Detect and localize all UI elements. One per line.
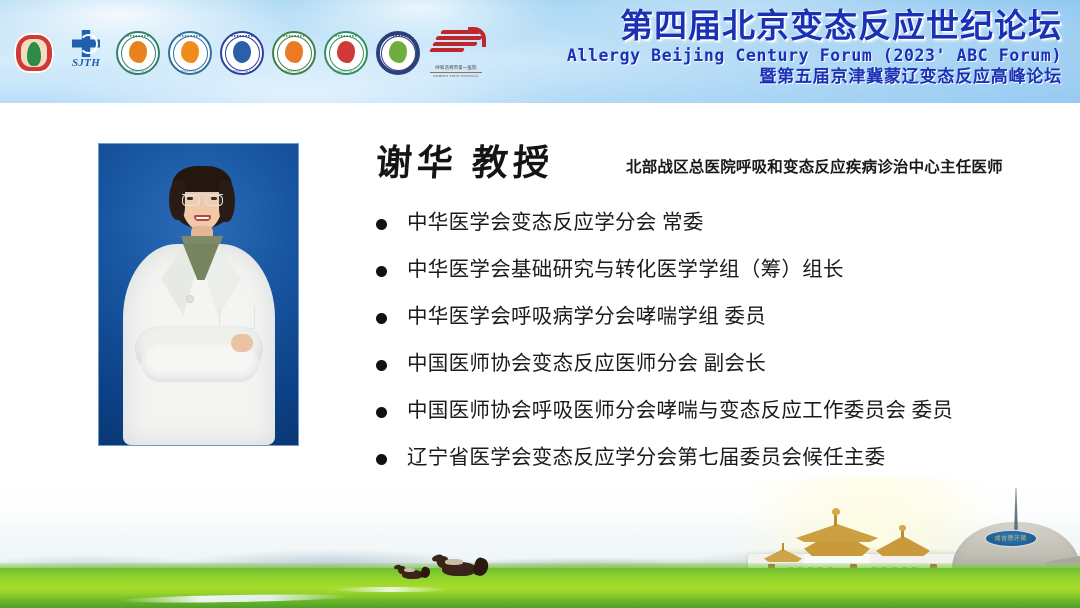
emblem-bottom-text-4: HOSPITAL bbox=[272, 69, 316, 73]
sjth-label: SJTH bbox=[66, 57, 106, 69]
horse-small bbox=[395, 566, 433, 586]
red-green-shield-icon bbox=[14, 33, 54, 73]
list-item: 中华医学会基础研究与转化医学学组（筹）组长 bbox=[376, 257, 1036, 304]
logo-hospital-emblem-2: ●●●●●●●● HOSPITAL bbox=[164, 25, 216, 81]
bullet-dot-icon bbox=[376, 360, 387, 371]
logo-hospital-emblem-1: ●●●●●●●● HOSPITAL bbox=[112, 25, 164, 81]
sjth-cross-icon: SJTH bbox=[66, 28, 106, 78]
emblem-bottom-text-1: HOSPITAL bbox=[116, 69, 160, 73]
logo-hospital-emblem-6: ●●●●●●●● HOSPITAL bbox=[372, 25, 424, 81]
sponsor-logo-strip: SJTH ●●●●●●●● HOSPITAL ●●●●●●●● HOSPITAL bbox=[8, 24, 478, 82]
forum-title-en: Allergy Beijing Century Forum (2023' ABC… bbox=[462, 45, 1062, 66]
horse-large bbox=[432, 556, 492, 588]
hospital-circular-emblem-icon-2: ●●●●●●●● HOSPITAL bbox=[168, 31, 212, 75]
logo-hospital-emblem-5: ●●●●●●●● HOSPITAL bbox=[320, 25, 372, 81]
speaker-role-title: 北部战区总医院呼吸和变态反应疾病诊治中心主任医师 bbox=[626, 158, 1003, 178]
credential-text: 中华医学会变态反应学分会 常委 bbox=[407, 210, 704, 236]
presentation-slide: SJTH ●●●●●●●● HOSPITAL ●●●●●●●● HOSPITAL bbox=[0, 0, 1080, 608]
bullet-dot-icon bbox=[376, 313, 387, 324]
credential-text: 辽宁省医学会变态反应学分会第七届委员会候任主委 bbox=[407, 445, 885, 471]
hospital-circular-emblem-icon-3: ●●●●●●●● HOSPITAL bbox=[220, 31, 264, 75]
emblem-bottom-text-2: HOSPITAL bbox=[168, 69, 212, 73]
emblem-bottom-text-5: HOSPITAL bbox=[324, 69, 368, 73]
logo-hospital-emblem-3: ●●●●●●●● HOSPITAL bbox=[216, 25, 268, 81]
forum-title-block: 第四届北京变态反应世纪论坛 Allergy Beijing Century Fo… bbox=[462, 8, 1062, 87]
hospital-circular-emblem-icon-1: ●●●●●●●● HOSPITAL bbox=[116, 31, 160, 75]
logo-hospital-emblem-4: ●●●●●●●● HOSPITAL bbox=[268, 25, 320, 81]
hospital-circular-emblem-icon-6: ●●●●●●●● HOSPITAL bbox=[376, 31, 420, 75]
grassland-landscape-footer: 成吉思汗陵 bbox=[0, 478, 1080, 608]
speaker-name: 谢华 教授 bbox=[374, 141, 555, 185]
list-item: 中国医师协会变态反应医师分会 副会长 bbox=[376, 351, 1036, 398]
mausoleum-roof-right bbox=[876, 536, 930, 556]
bullet-dot-icon bbox=[376, 266, 387, 277]
hospital-circular-emblem-icon-5: ●●●●●●●● HOSPITAL bbox=[324, 31, 368, 75]
credential-text: 中华医学会基础研究与转化医学学组（筹）组长 bbox=[407, 257, 844, 283]
emblem-bottom-text-3: HOSPITAL bbox=[220, 69, 264, 73]
mausoleum-sign-text: 成吉思汗陵 bbox=[986, 534, 1036, 542]
doctor-figure-illustration bbox=[99, 144, 298, 445]
forum-title-cn: 第四届北京变态反应世纪论坛 bbox=[462, 8, 1062, 44]
bullet-dot-icon bbox=[376, 454, 387, 465]
credential-text: 中国医师协会变态反应医师分会 副会长 bbox=[407, 351, 766, 377]
list-item: 中国医师协会呼吸医师分会哮喘与变态反应工作委员会 委员 bbox=[376, 398, 1036, 445]
speaker-portrait-photo bbox=[98, 143, 299, 446]
logo-sjth-blue-cross: SJTH bbox=[60, 25, 112, 81]
bullet-dot-icon bbox=[376, 407, 387, 418]
list-item: 中华医学会变态反应学分会 常委 bbox=[376, 210, 1036, 257]
logo-red-green-shield-emblem bbox=[8, 25, 60, 81]
list-item: 中华医学会呼吸病学分会哮喘学组 委员 bbox=[376, 304, 1036, 351]
bullet-dot-icon bbox=[376, 219, 387, 230]
credentials-list: 中华医学会变态反应学分会 常委 中华医学会基础研究与转化医学学组（筹）组长 中华… bbox=[376, 210, 1036, 492]
emblem-bottom-text-6: HOSPITAL bbox=[376, 69, 420, 73]
hospital-circular-emblem-icon-4: ●●●●●●●● HOSPITAL bbox=[272, 31, 316, 75]
mausoleum-sign-plaque: 成吉思汗陵 bbox=[986, 531, 1036, 546]
forum-header-banner: SJTH ●●●●●●●● HOSPITAL ●●●●●●●● HOSPITAL bbox=[0, 0, 1080, 103]
credential-text: 中国医师协会呼吸医师分会哮喘与变态反应工作委员会 委员 bbox=[407, 398, 953, 424]
forum-subtitle-cn: 暨第五届京津冀蒙辽变态反应高峰论坛 bbox=[462, 66, 1062, 87]
credential-text: 中华医学会呼吸病学分会哮喘学组 委员 bbox=[407, 304, 766, 330]
